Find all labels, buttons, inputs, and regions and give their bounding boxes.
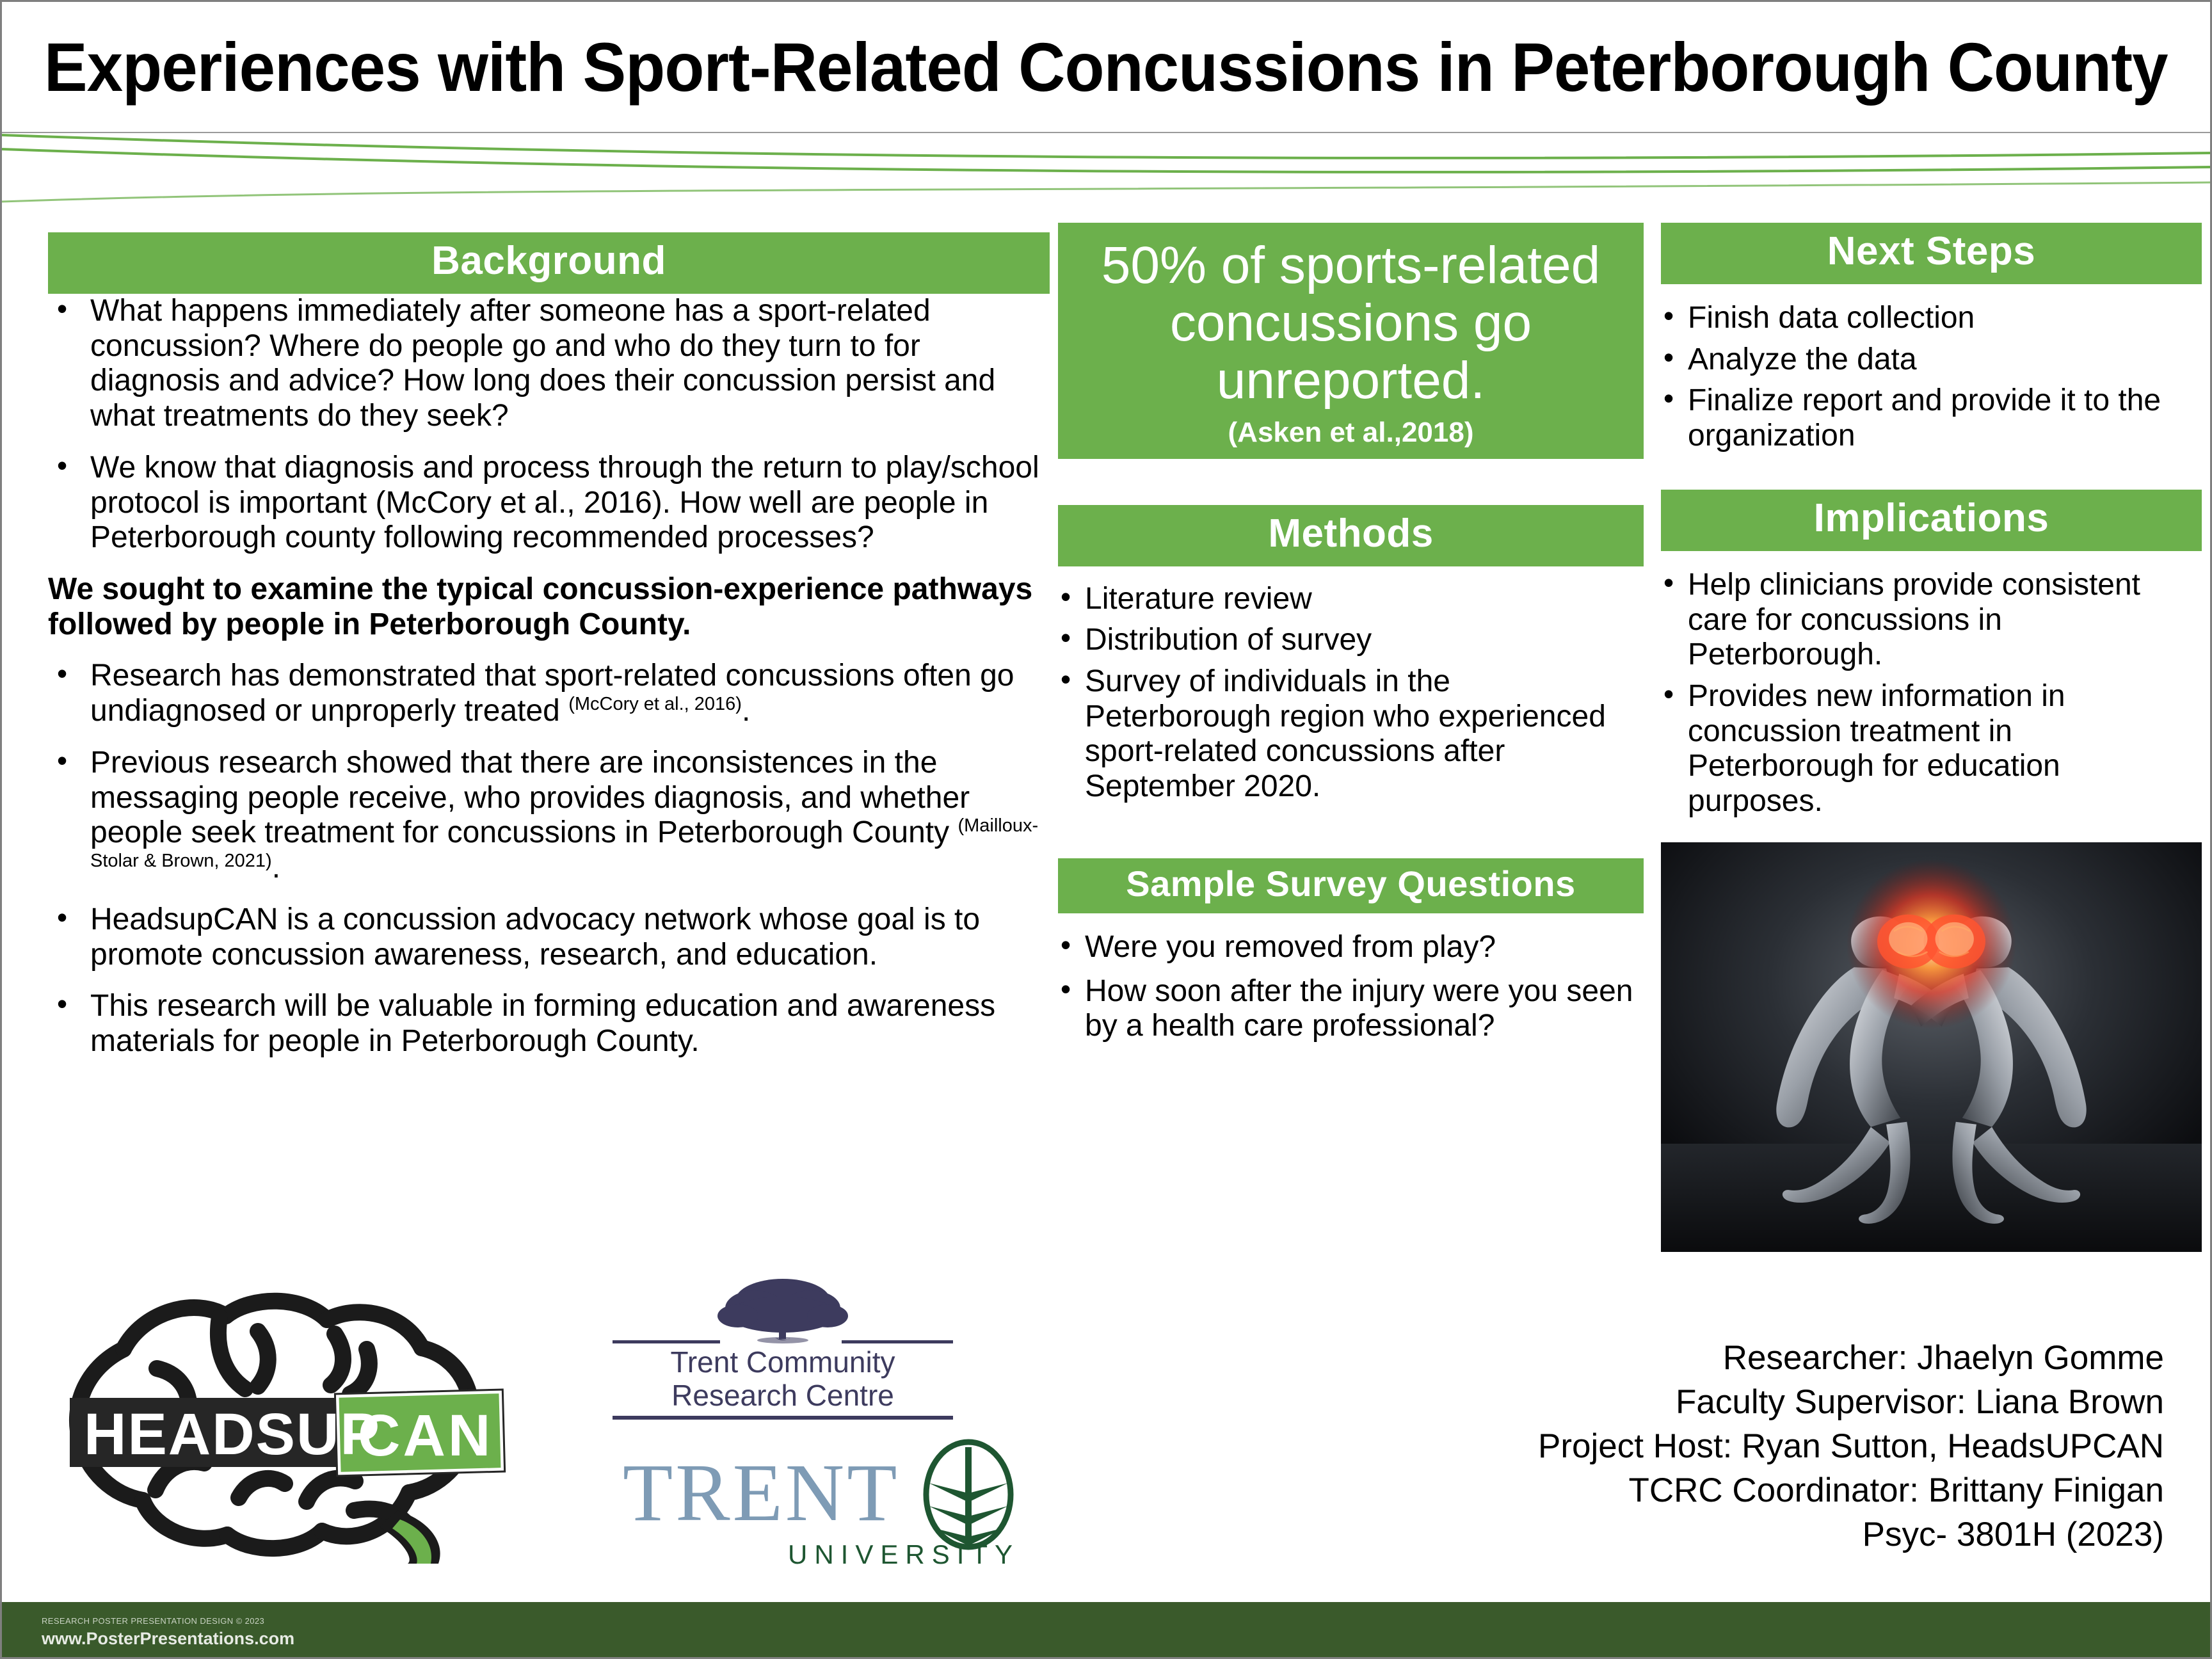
credit-line: Faculty Supervisor: Liana Brown [1268, 1381, 2164, 1425]
trent-university-logo: TRENT UNIVERSITY [623, 1436, 1026, 1573]
list-item: We know that diagnosis and process throu… [48, 451, 1050, 556]
page-title: Experiences with Sport-Related Concussio… [44, 27, 2168, 107]
oak-tree-icon [717, 1279, 848, 1343]
credit-line: Psyc- 3801H (2023) [1268, 1513, 2164, 1557]
next-steps-list: Finish data collection Analyze the data … [1661, 301, 2202, 454]
poster-canvas: Experiences with Sport-Related Concussio… [0, 0, 2212, 1659]
implications-list: Help clinicians provide consistent care … [1661, 568, 2202, 819]
footer-bar: RESEARCH POSTER PRESENTATION DESIGN © 20… [2, 1602, 2210, 1657]
credit-line: TCRC Coordinator: Brittany Finigan [1268, 1469, 2164, 1513]
headsupcan-word1: HEADSUP [84, 1402, 381, 1467]
title-band: Experiences with Sport-Related Concussio… [2, 2, 2210, 133]
background-intro-list: What happens immediately after someone h… [48, 294, 1050, 556]
trent-wordmark: TRENT [623, 1447, 899, 1538]
list-item: Analyze the data [1661, 342, 2202, 378]
section-header-sample-survey-questions: Sample Survey Questions [1058, 858, 1644, 913]
list-item: Distribution of survey [1058, 623, 1644, 658]
statistic-citation: (Asken et al.,2018) [1075, 417, 1627, 449]
background-findings-list: Research has demonstrated that sport-rel… [48, 659, 1050, 1059]
list-item: Survey of individuals in the Peterboroug… [1058, 664, 1644, 805]
list-item: This research will be valuable in formin… [48, 989, 1050, 1059]
credit-line: Project Host: Ryan Sutton, HeadsUPCAN [1268, 1425, 2164, 1469]
statistic-callout-box: 50% of sports-related concussions go unr… [1058, 223, 1644, 459]
list-item: Literature review [1058, 582, 1644, 617]
list-item: Finalize report and provide it to the or… [1661, 383, 2202, 453]
list-item-text: HeadsupCAN is a concussion advocacy netw… [90, 902, 980, 972]
credits-block: Researcher: Jhaelyn Gomme Faculty Superv… [1268, 1336, 2164, 1557]
list-item: Previous research showed that there are … [48, 746, 1050, 886]
concussion-collision-photo [1661, 842, 2202, 1252]
section-header-methods: Methods [1058, 505, 1644, 566]
background-bold-statement: We sought to examine the typical concuss… [48, 572, 1050, 642]
middle-column: 50% of sports-related concussions go unr… [1058, 223, 1644, 1053]
tcrc-line2: Research Centre [671, 1379, 894, 1412]
credit-line: Researcher: Jhaelyn Gomme [1268, 1336, 2164, 1381]
swoosh-decoration-icon [2, 127, 2210, 204]
list-item: Help clinicians provide consistent care … [1661, 568, 2202, 673]
headsupcan-logo: HEADSUP CAN [47, 1272, 520, 1564]
list-item: HeadsupCAN is a concussion advocacy netw… [48, 902, 1050, 972]
list-item-text: Research has demonstrated that sport-rel… [90, 659, 1014, 728]
section-header-background: Background [48, 232, 1050, 294]
section-header-implications: Implications [1661, 490, 2202, 551]
trent-subtitle: UNIVERSITY [788, 1539, 1020, 1569]
list-item: Finish data collection [1661, 301, 2202, 336]
list-item-tail: . [272, 851, 280, 885]
trent-leaf-icon [926, 1442, 1011, 1547]
list-item-text: This research will be valuable in formin… [90, 989, 995, 1058]
section-header-next-steps: Next Steps [1661, 223, 2202, 284]
headsupcan-word2: CAN [358, 1403, 493, 1468]
footer-copyright: RESEARCH POSTER PRESENTATION DESIGN © 20… [42, 1616, 264, 1626]
statistic-headline: 50% of sports-related concussions go unr… [1075, 237, 1627, 410]
list-item: How soon after the injury were you seen … [1058, 974, 1644, 1044]
methods-list: Literature review Distribution of survey… [1058, 582, 1644, 805]
left-column: Background What happens immediately afte… [48, 232, 1050, 1076]
right-column: Next Steps Finish data collection Analyz… [1661, 223, 2202, 1252]
footer-website[interactable]: www.PosterPresentations.com [42, 1629, 294, 1649]
list-item: Provides new information in concussion t… [1661, 679, 2202, 819]
list-item: What happens immediately after someone h… [48, 294, 1050, 434]
logos-row: HEADSUP CAN Trent C [40, 1272, 1039, 1580]
list-item-text: Previous research showed that there are … [90, 746, 970, 849]
citation-superscript: (McCory et al., 2016) [568, 694, 742, 714]
list-item-tail: . [742, 694, 750, 728]
trent-community-research-centre-logo: Trent Community Research Centre [604, 1279, 962, 1439]
list-item: Were you removed from play? [1058, 930, 1644, 965]
tcrc-line1: Trent Community [670, 1345, 895, 1379]
list-item: Research has demonstrated that sport-rel… [48, 659, 1050, 728]
sample-survey-list: Were you removed from play? How soon aft… [1058, 930, 1644, 1044]
